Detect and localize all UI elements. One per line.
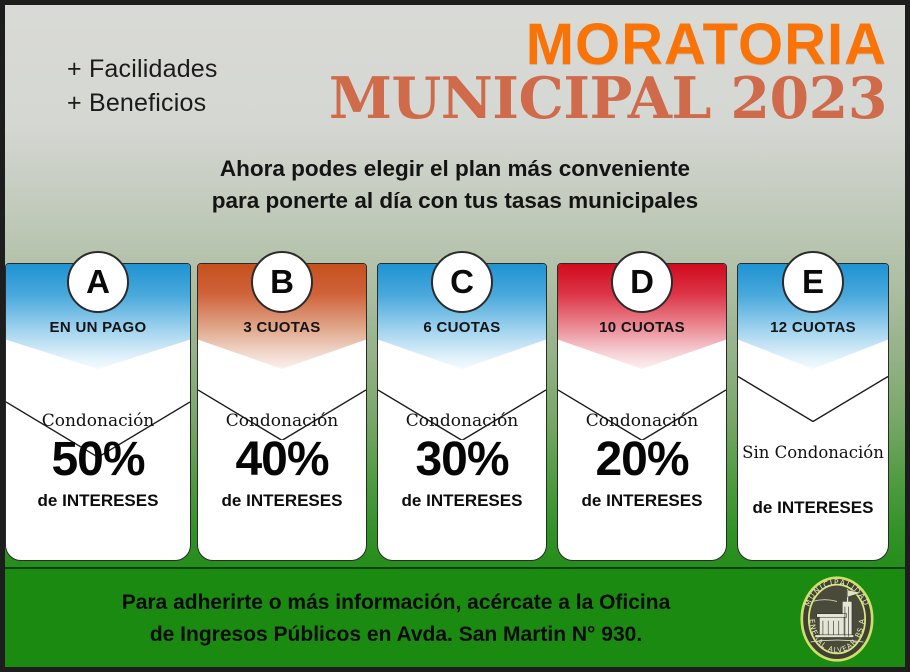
plan-card-condonacion-label: Condonación: [558, 411, 726, 431]
plan-card-body: Sin Condonaciónde INTERESES: [738, 369, 888, 560]
municipal-seal-icon: MUNICIPALIDAD GENERAL ALVEAR BS AS: [793, 575, 881, 663]
plan-badge-c: C: [431, 251, 493, 313]
benefit-item-facilidades: + Facilidades: [67, 53, 218, 87]
plan-card-condonacion-label: Sin Condonación: [738, 443, 888, 462]
plan-badge-a: A: [67, 251, 129, 313]
plan-card-percent: 50%: [6, 435, 190, 485]
plan-card-percent: 40%: [198, 435, 366, 485]
title-line-municipal: MUNICIPAL 2023: [329, 70, 887, 128]
footer-line-2: de Ingresos Públicos en Avda. San Martin…: [41, 619, 751, 651]
plan-card-body: Condonación20%de INTERESES: [558, 369, 726, 560]
plan-card-interest-label: de INTERESES: [6, 491, 190, 511]
plan-badge-b: B: [251, 251, 313, 313]
plan-card-term-label: 6 CUOTAS: [378, 319, 546, 336]
plan-badge-d: D: [611, 251, 673, 313]
plan-card-body: Condonación50%de INTERESES: [6, 369, 190, 560]
footer-text: Para adherirte o más información, acérca…: [41, 587, 751, 650]
plan-card-interest-label: de INTERESES: [738, 498, 888, 518]
plan-card-condonacion-label: Condonación: [198, 411, 366, 431]
plan-card-interest-label: de INTERESES: [198, 491, 366, 511]
plan-cards: EN UN PAGOCondonación50%de INTERESESA3 C…: [5, 257, 910, 567]
plan-card-body: Condonación40%de INTERESES: [198, 369, 366, 560]
plan-card-term-label: EN UN PAGO: [6, 319, 190, 336]
poster-root: + Facilidades + Beneficios MORATORIA MUN…: [0, 0, 910, 672]
subtitle-line-2: para ponerte al día con tus tasas munici…: [5, 185, 905, 217]
plan-card-condonacion-label: Condonación: [6, 411, 190, 431]
plan-card-interest-label: de INTERESES: [558, 491, 726, 511]
plan-card-body: Condonación30%de INTERESES: [378, 369, 546, 560]
plan-card-condonacion-label: Condonación: [378, 411, 546, 431]
subtitle-line-1: Ahora podes elegir el plan más convenien…: [5, 153, 905, 185]
page-title: MORATORIA MUNICIPAL 2023: [329, 15, 887, 128]
plan-card-interest-label: de INTERESES: [378, 491, 546, 511]
benefit-item-beneficios: + Beneficios: [67, 87, 218, 121]
plan-card-percent: 30%: [378, 435, 546, 485]
plan-card-term-label: 3 CUOTAS: [198, 319, 366, 336]
plan-card-term-label: 10 CUOTAS: [558, 319, 726, 336]
subtitle: Ahora podes elegir el plan más convenien…: [5, 153, 905, 217]
plan-badge-e: E: [782, 251, 844, 313]
benefits-list: + Facilidades + Beneficios: [67, 53, 218, 121]
plan-card-term-label: 12 CUOTAS: [738, 319, 888, 336]
footer-bar: Para adherirte o más información, acérca…: [5, 567, 905, 667]
footer-line-1: Para adherirte o más información, acérca…: [41, 587, 751, 619]
plan-card-percent: 20%: [558, 435, 726, 485]
